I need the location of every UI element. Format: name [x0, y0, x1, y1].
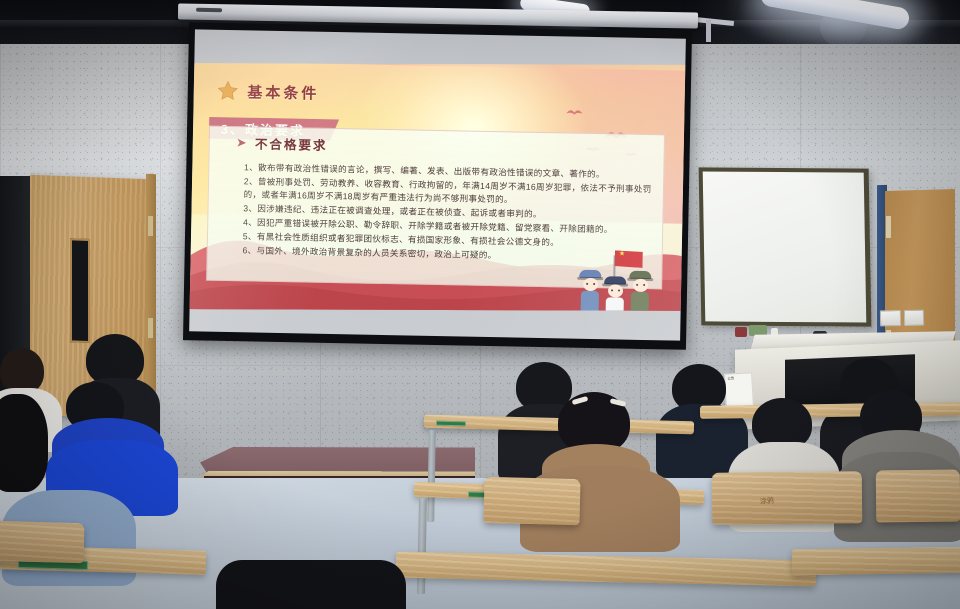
mascot-face [583, 278, 598, 291]
screen-surface: 基本条件 3、政治要求 ➤ 不合格要求 1、散布带有政治性错误的言论，撰写、编 [189, 29, 686, 340]
police-mascot-group: ★ [579, 251, 672, 311]
arrow-bullet-icon: ➤ [237, 136, 248, 149]
police-mascot-blue [579, 270, 602, 311]
slide-bullet-heading-row: ➤ 不合格要求 [237, 133, 328, 154]
classroom-scene: 基本条件 3、政治要求 ➤ 不合格要求 1、散布带有政治性错误的言论，撰写、编 [0, 0, 960, 609]
wall-light-switches[interactable] [880, 310, 924, 327]
desk-graffiti: 涂鸦 [760, 496, 775, 507]
door-hinge-icon [886, 216, 891, 238]
presentation-slide: 基本条件 3、政治要求 ➤ 不合格要求 1、散布带有政治性错误的言论，撰写、编 [190, 63, 686, 311]
mascot-body [581, 291, 599, 311]
projection-screen[interactable]: 基本条件 3、政治要求 ➤ 不合格要求 1、散布带有政治性错误的言论，撰写、编 [183, 22, 692, 350]
mascot-face [633, 279, 648, 292]
door-vision-panel [70, 238, 90, 343]
desk-front-nearest-right[interactable] [792, 547, 960, 576]
chair-back[interactable] [0, 521, 85, 564]
police-cap-icon [604, 276, 626, 284]
slide-bullet-heading: 不合格要求 [255, 134, 328, 154]
whiteboard[interactable] [699, 167, 872, 326]
chair-wood-grain [712, 471, 863, 525]
podium-notice-sign: 公告 [724, 372, 754, 407]
police-mascot-olive [629, 271, 652, 311]
police-cap-icon [579, 270, 601, 278]
light-switch-icon[interactable] [880, 310, 901, 326]
slide-title-row: 基本条件 [216, 80, 319, 104]
slide-title: 基本条件 [247, 81, 319, 103]
lamp-bracket-drop [706, 20, 711, 42]
mascot-body [631, 292, 649, 311]
chair-wood-grain [483, 477, 580, 525]
flag-star-icon: ★ [619, 249, 625, 257]
student-torso [216, 560, 406, 609]
student-head [0, 394, 48, 492]
chair-wood-grain [0, 521, 85, 564]
star-icon [216, 80, 238, 102]
light-switch-icon[interactable] [903, 310, 924, 326]
police-cap-icon [629, 271, 651, 279]
door-hinge-icon [148, 216, 153, 236]
desk-wood-grain [792, 547, 960, 576]
roller-slot [196, 8, 222, 12]
chair-back[interactable]: 涂鸦 [712, 471, 863, 525]
podium-item-icon [735, 327, 747, 337]
police-mascot-white [604, 276, 627, 311]
chair-wood-grain [876, 470, 960, 523]
mascot-body [606, 297, 624, 311]
mascot-face [608, 284, 623, 297]
chair-back[interactable] [876, 470, 960, 523]
desk-label-tag [436, 421, 466, 427]
chair-back[interactable] [483, 477, 580, 525]
door-hinge-icon [148, 318, 153, 338]
